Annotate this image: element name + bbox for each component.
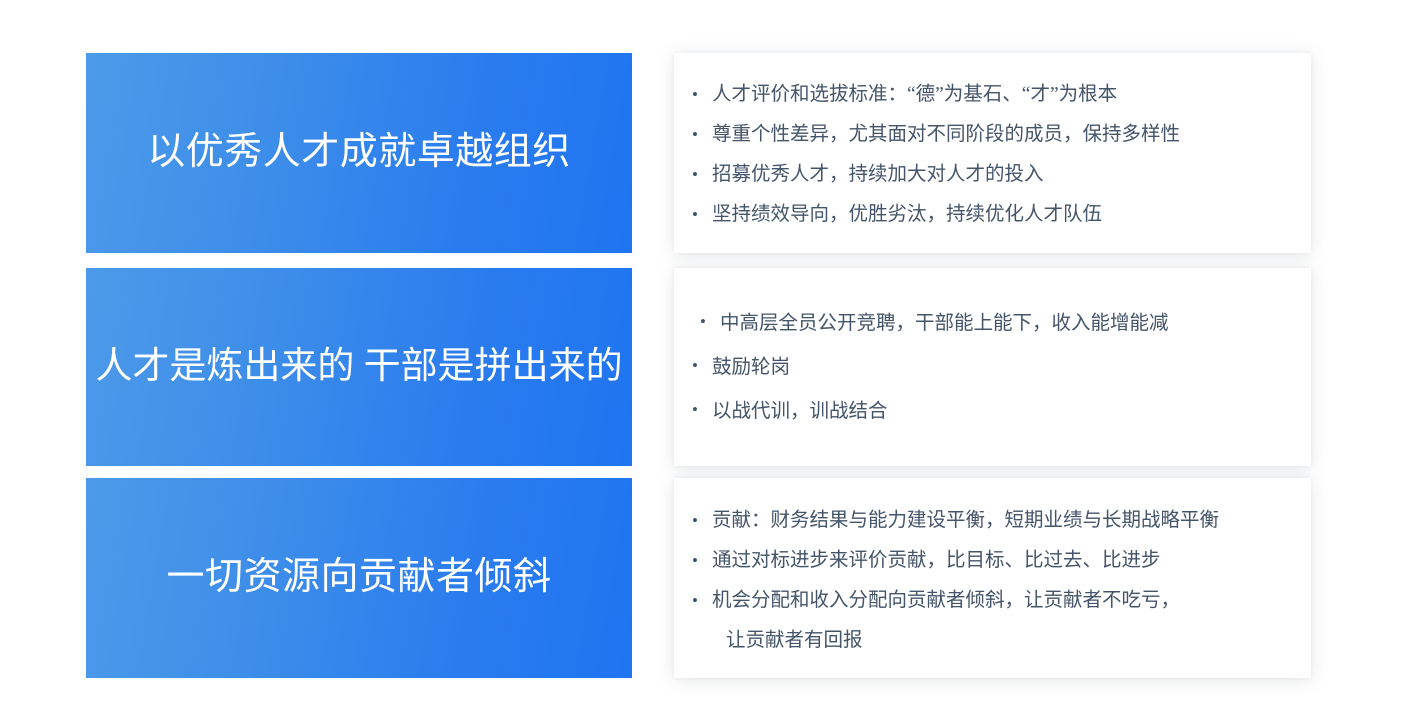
- list-item: 鼓励轮岗: [690, 346, 1285, 390]
- bullet-list-1: 人才评价和选拔标准：“德”为基石、“才”为根本 尊重个性差异，尤其面对不同阶段的…: [690, 75, 1285, 235]
- list-item: 通过对标进步来评价贡献，比目标、比过去、比进步: [690, 541, 1285, 581]
- content-card-2: 中高层全员公开竞聘，干部能上能下，收入能增能减 鼓励轮岗 以战代训，训战结合: [674, 268, 1311, 466]
- heading-title-2: 人才是炼出来的 干部是拼出来的: [95, 346, 622, 389]
- bullet-list-2: 中高层全员公开竞聘，干部能上能下，收入能增能减 鼓励轮岗 以战代训，训战结合: [690, 302, 1285, 434]
- content-card-3: 贡献：财务结果与能力建设平衡，短期业绩与长期战略平衡 通过对标进步来评价贡献，比…: [674, 478, 1311, 678]
- slide-root: 以优秀人才成就卓越组织 人才评价和选拔标准：“德”为基石、“才”为根本 尊重个性…: [0, 0, 1425, 712]
- list-item: 机会分配和收入分配向贡献者倾斜，让贡献者不吃亏， 让贡献者有回报: [690, 581, 1285, 661]
- list-item: 中高层全员公开竞聘，干部能上能下，收入能增能减: [690, 302, 1285, 346]
- list-item: 尊重个性差异，尤其面对不同阶段的成员，保持多样性: [690, 115, 1285, 155]
- card-inner-2: 中高层全员公开竞聘，干部能上能下，收入能增能减 鼓励轮岗 以战代训，训战结合: [674, 300, 1311, 434]
- heading-panel-3: 一切资源向贡献者倾斜: [86, 478, 632, 678]
- bullet-list-3: 贡献：财务结果与能力建设平衡，短期业绩与长期战略平衡 通过对标进步来评价贡献，比…: [690, 501, 1285, 661]
- list-item: 以战代训，训战结合: [690, 390, 1285, 434]
- list-item: 招募优秀人才，持续加大对人才的投入: [690, 155, 1285, 195]
- list-item: 贡献：财务结果与能力建设平衡，短期业绩与长期战略平衡: [690, 501, 1285, 541]
- heading-title-3: 一切资源向贡献者倾斜: [166, 556, 551, 600]
- heading-panel-2: 人才是炼出来的 干部是拼出来的: [86, 268, 632, 466]
- list-item: 坚持绩效导向，优胜劣汰，持续优化人才队伍: [690, 195, 1285, 235]
- section-row-1: 以优秀人才成就卓越组织 人才评价和选拔标准：“德”为基石、“才”为根本 尊重个性…: [0, 53, 1425, 253]
- section-row-3: 一切资源向贡献者倾斜 贡献：财务结果与能力建设平衡，短期业绩与长期战略平衡 通过…: [0, 478, 1425, 678]
- card-inner-3: 贡献：财务结果与能力建设平衡，短期业绩与长期战略平衡 通过对标进步来评价贡献，比…: [674, 495, 1311, 661]
- list-item-text: 机会分配和收入分配向贡献者倾斜，让贡献者不吃亏，: [712, 590, 1180, 611]
- card-inner-1: 人才评价和选拔标准：“德”为基石、“才”为根本 尊重个性差异，尤其面对不同阶段的…: [674, 71, 1311, 235]
- section-row-2: 人才是炼出来的 干部是拼出来的 中高层全员公开竞聘，干部能上能下，收入能增能减 …: [0, 268, 1425, 466]
- heading-panel-1: 以优秀人才成就卓越组织: [86, 53, 632, 253]
- list-item-continuation: 让贡献者有回报: [712, 621, 1285, 661]
- content-card-1: 人才评价和选拔标准：“德”为基石、“才”为根本 尊重个性差异，尤其面对不同阶段的…: [674, 53, 1311, 253]
- list-item: 人才评价和选拔标准：“德”为基石、“才”为根本: [690, 75, 1285, 115]
- heading-title-1: 以优秀人才成就卓越组织: [147, 131, 571, 175]
